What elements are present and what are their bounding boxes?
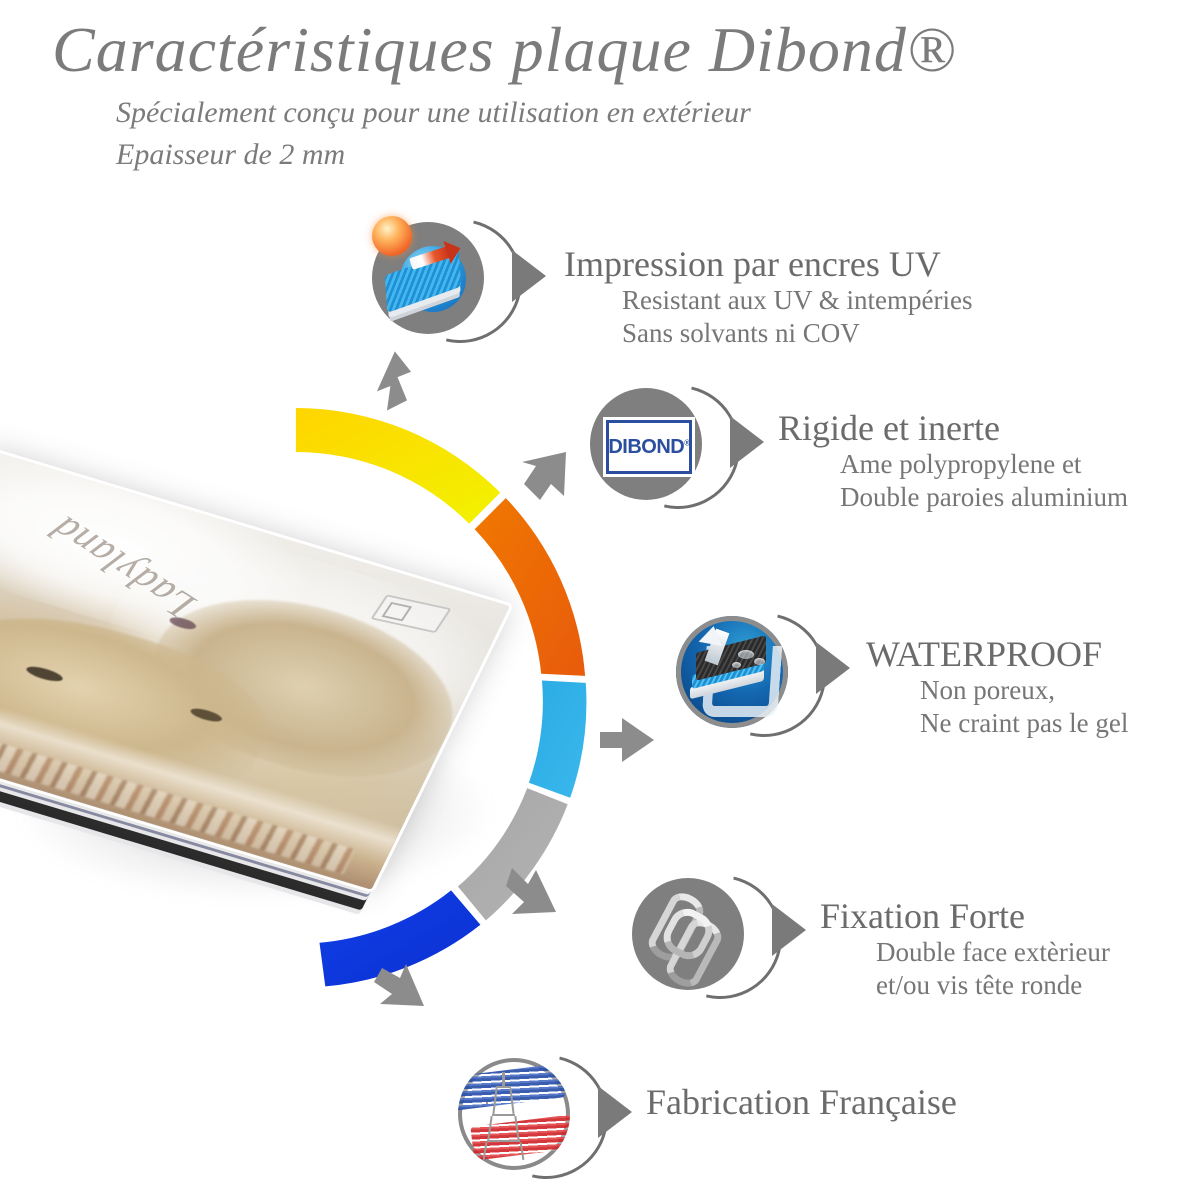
page-title: Caractéristiques plaque Dibond® — [52, 16, 956, 83]
color-arc — [176, 348, 656, 1048]
feature-heading: Rigide et inerte — [778, 410, 1128, 448]
caret-icon — [730, 416, 764, 468]
blue-segment — [320, 890, 481, 986]
yellow-segment — [296, 408, 500, 524]
light-blue-segment — [529, 681, 587, 798]
page-subtitle-2: Epaisseur de 2 mm — [116, 138, 345, 172]
caret-icon — [512, 250, 546, 302]
feature-line-2: Ne craint pas le gel — [920, 707, 1128, 740]
water-drop-2 — [754, 658, 765, 665]
feature-heading: Impression par encres UV — [564, 246, 972, 284]
french-flag-eiffel-icon — [458, 1058, 576, 1176]
chain-link-icon — [632, 878, 750, 996]
arrow-to-uv — [373, 350, 415, 411]
dibond-logo-box: DIBOND® — [606, 420, 692, 474]
arrow-to-rigid — [522, 452, 566, 500]
arrow-to-fixation — [506, 868, 556, 914]
feature-heading: Fixation Forte — [820, 898, 1110, 936]
caret-icon — [772, 904, 806, 956]
uv-printing-icon — [372, 222, 490, 340]
feature-line-2: Double paroies aluminium — [840, 481, 1128, 514]
orange-segment — [475, 498, 585, 676]
infographic-page: Caractéristiques plaque Dibond® Spéciale… — [0, 0, 1199, 1199]
feature-line-1: Non poreux, — [920, 674, 1128, 707]
arrow-to-french — [374, 964, 424, 1006]
feature-line-1: Double face extèrieur — [876, 936, 1110, 969]
water-drop-1 — [738, 650, 754, 659]
grey-segment — [458, 788, 568, 920]
dibond-logo-text: DIBOND® — [608, 436, 689, 459]
dibond-logo-icon: DIBOND® — [590, 388, 708, 506]
chain-group — [632, 878, 744, 990]
page-subtitle-1: Spécialement conçu pour une utilisation … — [116, 96, 751, 130]
feature-heading: WATERPROOF — [866, 636, 1128, 674]
feature-line-2: Sans solvants ni COV — [622, 317, 972, 350]
feature-heading: Fabrication Française — [646, 1084, 957, 1122]
caret-icon — [598, 1086, 632, 1138]
caret-icon — [816, 642, 850, 694]
up-arrow-icon — [702, 630, 736, 664]
feature-line-1: Resistant aux UV & intempéries — [622, 284, 972, 317]
feature-line-2: et/ou vis tête ronde — [876, 969, 1110, 1002]
sun-icon — [372, 216, 412, 256]
waterproof-layers-icon — [676, 616, 794, 734]
feature-line-1: Ame polypropylene et — [840, 448, 1128, 481]
arrow-to-waterproof — [600, 718, 654, 762]
